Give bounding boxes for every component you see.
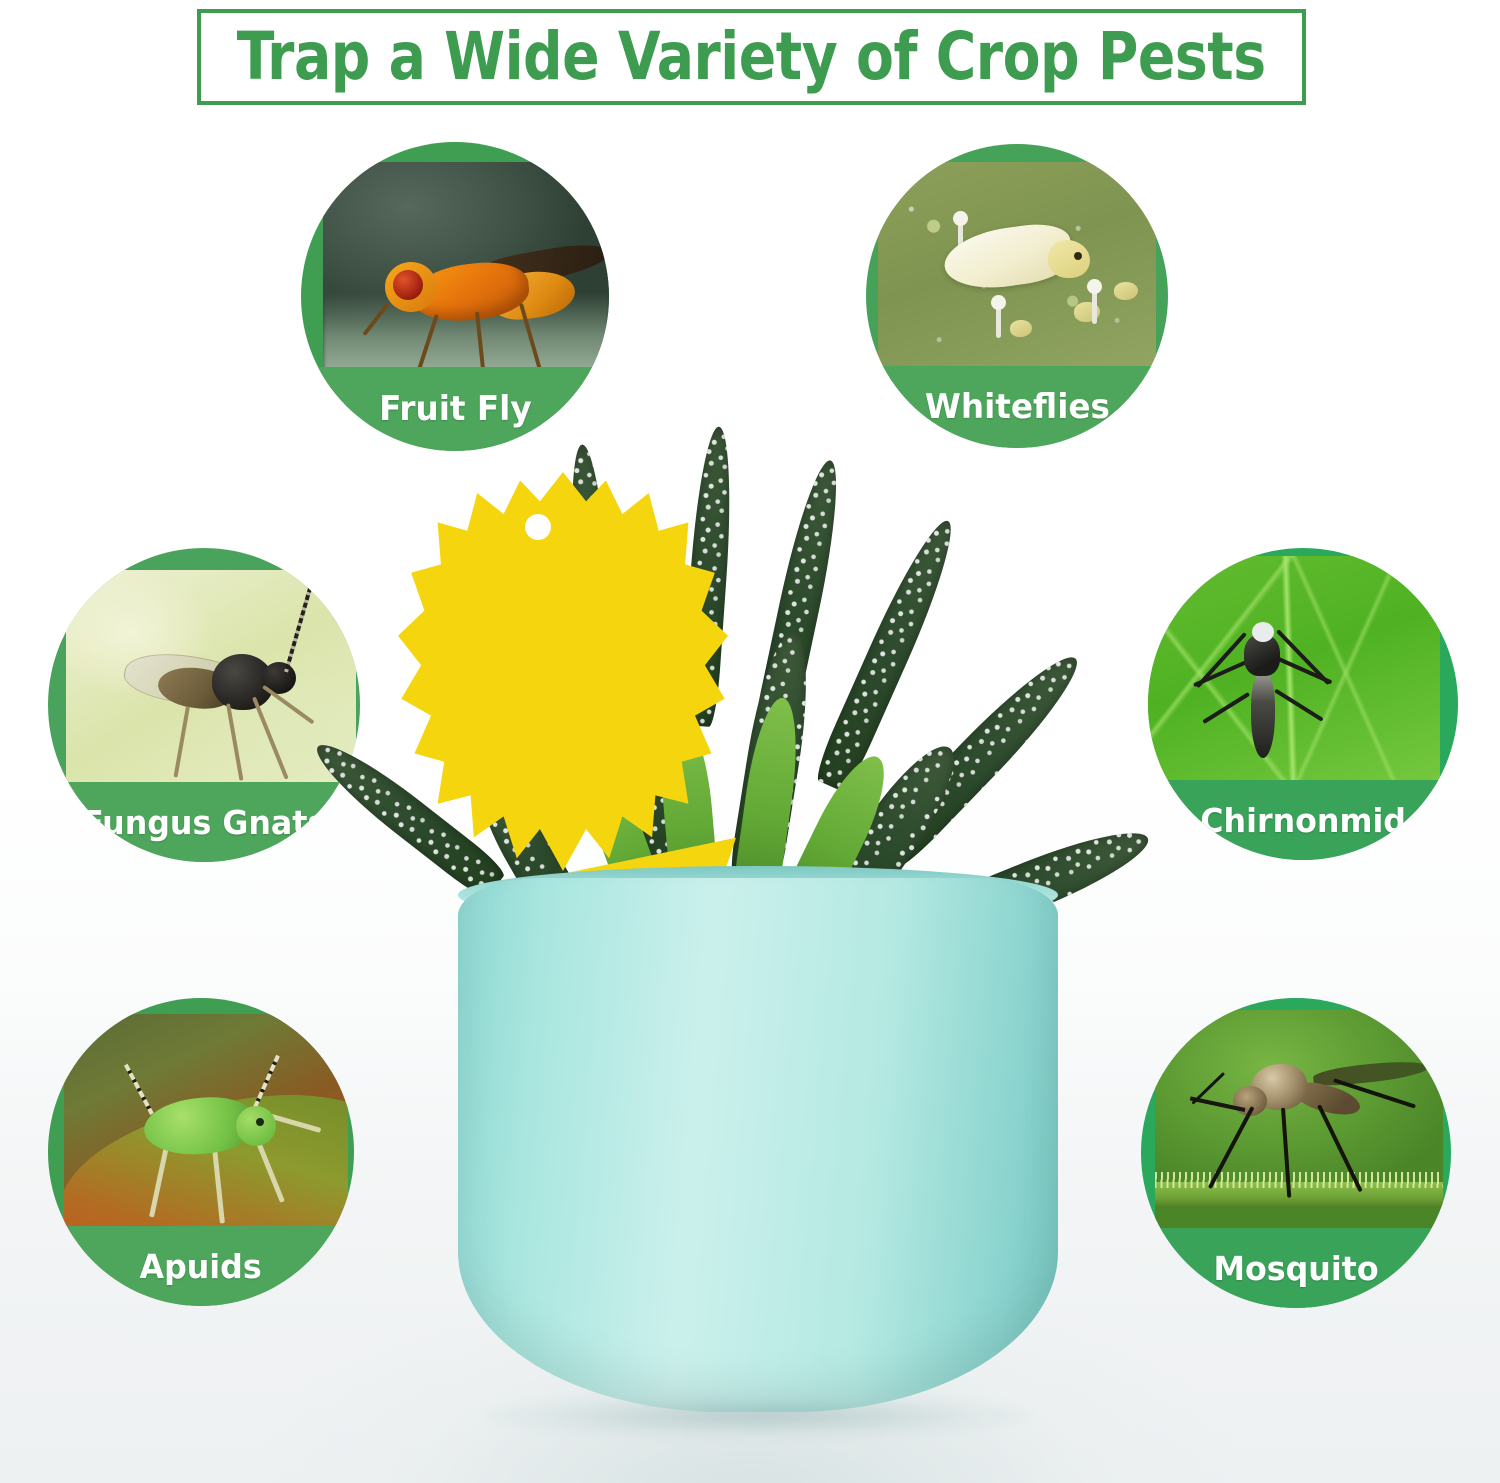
apuids-photo	[64, 1014, 348, 1236]
infographic-canvas: Trap a Wide Variety of Crop Pests Fruit …	[0, 0, 1500, 1483]
wax-stalk	[1092, 288, 1097, 324]
page-title-box: Trap a Wide Variety of Crop Pests	[197, 9, 1306, 105]
aphid-head	[236, 1106, 276, 1146]
stem-hairs	[1155, 1172, 1443, 1188]
mint-ceramic-pot	[458, 878, 1058, 1412]
fungus-gnat-leg	[226, 703, 243, 781]
wax-stalk	[996, 304, 1001, 338]
pest-label-band-fungus-gnats: Fungus Gnats	[48, 782, 360, 862]
fungus-gnats-photo	[66, 570, 356, 794]
pest-label-band-mosquito: Mosquito	[1141, 1228, 1451, 1308]
aphid-eye	[256, 1118, 264, 1126]
pest-circle-chirnonmid[interactable]: Chirnonmid	[1148, 548, 1458, 860]
whiteflies-photo	[878, 162, 1156, 376]
fungus-gnat-leg	[173, 706, 189, 778]
pest-label-apuids: Apuids	[140, 1247, 262, 1286]
product-photo	[380, 430, 1120, 1460]
trap-hanging-hole	[525, 514, 551, 540]
pot-shadow	[484, 1392, 1032, 1440]
fungus-gnat-antenna	[284, 587, 312, 673]
chirnonmid-photo	[1148, 556, 1440, 790]
pest-label-band-fruit-fly: Fruit Fly	[301, 367, 609, 451]
mosquito-wing	[1312, 1058, 1429, 1088]
fruit-fly-photo	[323, 162, 609, 388]
mosquito-photo	[1155, 1010, 1443, 1234]
chirnonmid-abdomen	[1251, 672, 1275, 758]
pest-label-band-chirnonmid: Chirnonmid	[1148, 780, 1458, 860]
pest-label-chirnonmid: Chirnonmid	[1200, 801, 1406, 840]
aphid-antenna	[124, 1064, 154, 1115]
fungus-gnat-leg	[252, 697, 289, 780]
pest-circle-whiteflies[interactable]: Whiteflies	[866, 144, 1168, 448]
pest-label-band-whiteflies: Whiteflies	[866, 366, 1168, 448]
pest-label-whiteflies: Whiteflies	[924, 387, 1109, 427]
pest-circle-mosquito[interactable]: Mosquito	[1141, 998, 1451, 1308]
whitefly-eye	[1074, 252, 1082, 260]
page-title: Trap a Wide Variety of Crop Pests	[237, 24, 1266, 90]
pest-circle-fruit-fly[interactable]: Fruit Fly	[301, 142, 609, 451]
pest-label-fruit-fly: Fruit Fly	[379, 389, 531, 429]
pest-circle-apuids[interactable]: Apuids	[48, 998, 354, 1306]
fruit-fly-eye	[393, 270, 423, 300]
leaf-veins	[1148, 556, 1440, 790]
whitefly-head	[1048, 240, 1090, 278]
pest-label-band-apuids: Apuids	[48, 1226, 354, 1306]
pest-circle-fungus-gnats[interactable]: Fungus Gnats	[48, 548, 360, 862]
chirnonmid-head	[1252, 622, 1274, 642]
pest-label-mosquito: Mosquito	[1213, 1249, 1378, 1288]
pest-label-fungus-gnats: Fungus Gnats	[82, 803, 326, 842]
